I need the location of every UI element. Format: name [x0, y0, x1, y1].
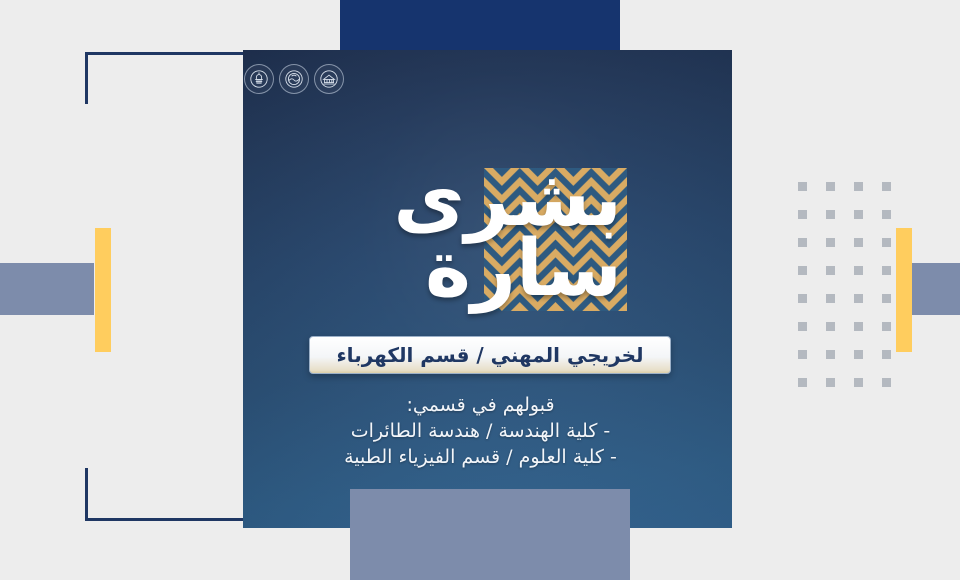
top-left-corner-frame — [85, 52, 245, 104]
left-amber-accent-bar — [95, 228, 111, 352]
grid-dot — [854, 294, 863, 303]
grid-dot — [882, 294, 891, 303]
grid-dot — [882, 350, 891, 359]
right-slate-accent-bar — [911, 263, 960, 315]
bottom-left-corner-frame — [85, 468, 245, 521]
grid-dot — [854, 210, 863, 219]
grid-dot — [882, 266, 891, 275]
bottom-slate-accent-bar — [350, 489, 630, 580]
chevron-pattern-svg — [484, 168, 627, 311]
college-emblem-icon — [314, 64, 344, 94]
university-emblem-icon — [279, 64, 309, 94]
grid-dot — [854, 322, 863, 331]
grid-dot — [826, 350, 835, 359]
ministry-emblem-icon — [244, 64, 274, 94]
grid-dot — [854, 182, 863, 191]
subtitle-banner-text: لخريجي المهني / قسم الكهرباء — [336, 343, 643, 367]
grid-dot — [798, 294, 807, 303]
grid-dot — [854, 266, 863, 275]
grid-dot — [826, 210, 835, 219]
body-item-line: - كلية الهندسة / هندسة الطائرات — [243, 418, 718, 444]
chevron-pattern-square — [484, 168, 627, 311]
grid-dot — [798, 210, 807, 219]
grid-dot — [798, 238, 807, 247]
grid-dot — [854, 378, 863, 387]
institution-logos — [244, 64, 344, 94]
poster-canvas: بشرى سارة لخريجي المهني / قسم الكهرباء ق… — [0, 0, 960, 580]
body-item-line: - كلية العلوم / قسم الفيزياء الطبية — [243, 444, 718, 470]
grid-dot — [826, 238, 835, 247]
grid-dot — [882, 182, 891, 191]
grid-dot — [826, 294, 835, 303]
body-lead-line: قبولهم في قسمي: — [243, 392, 718, 418]
subtitle-banner: لخريجي المهني / قسم الكهرباء — [309, 336, 671, 374]
grid-dot — [798, 266, 807, 275]
grid-dot — [854, 238, 863, 247]
grid-dot — [854, 350, 863, 359]
grid-dot — [798, 378, 807, 387]
grid-dot — [826, 322, 835, 331]
poster-body-text: قبولهم في قسمي: - كلية الهندسة / هندسة ا… — [243, 392, 732, 470]
grid-dot — [826, 266, 835, 275]
grid-dot — [798, 350, 807, 359]
grid-dot — [798, 322, 807, 331]
grid-dot — [798, 182, 807, 191]
top-navy-accent-bar — [340, 0, 620, 50]
grid-dot — [882, 210, 891, 219]
grid-dot — [826, 182, 835, 191]
grid-dot — [882, 238, 891, 247]
grid-dot — [826, 378, 835, 387]
grid-dot — [882, 322, 891, 331]
dot-grid-decoration — [798, 182, 910, 406]
left-slate-accent-bar — [0, 263, 94, 315]
grid-dot — [882, 378, 891, 387]
